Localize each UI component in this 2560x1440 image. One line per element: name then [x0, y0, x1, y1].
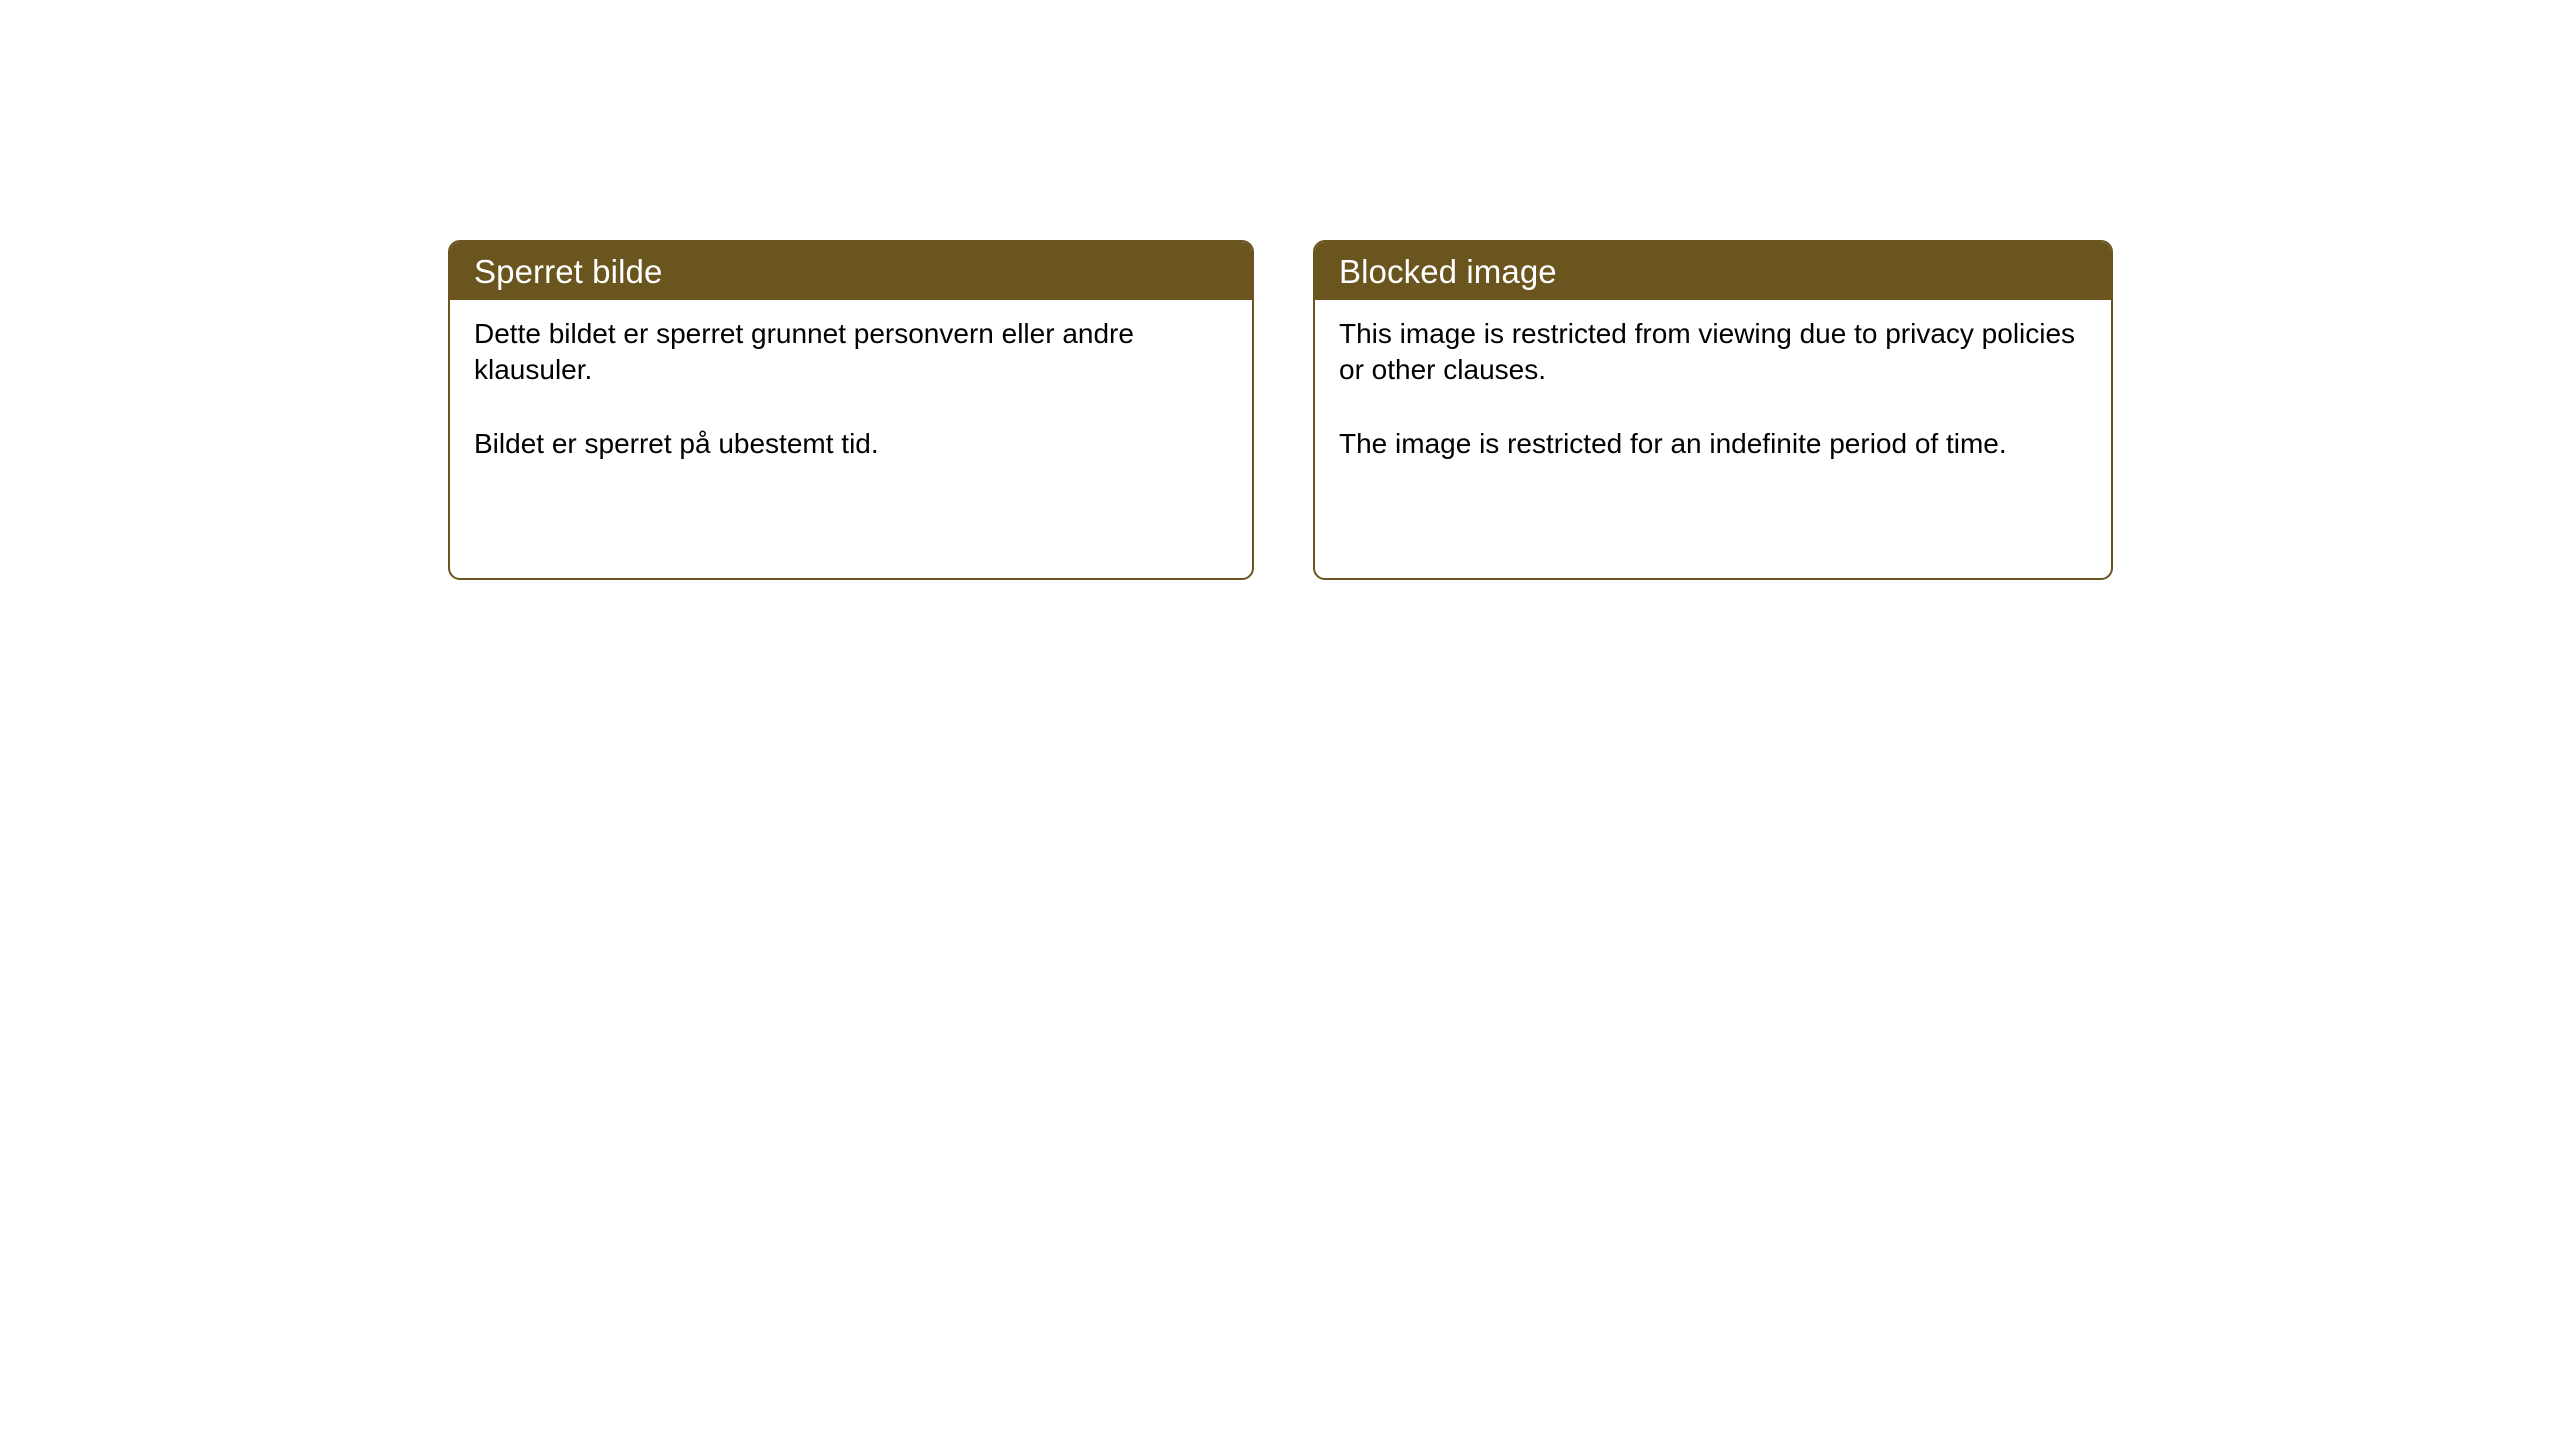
card-header-english: Blocked image	[1315, 242, 2111, 300]
card-header-norwegian: Sperret bilde	[450, 242, 1252, 300]
card-paragraph-duration-english: The image is restricted for an indefinit…	[1339, 426, 2079, 462]
page-canvas: Sperret bilde Dette bildet er sperret gr…	[0, 0, 2560, 1440]
blocked-image-card-english: Blocked image This image is restricted f…	[1313, 240, 2113, 580]
blocked-image-card-norwegian: Sperret bilde Dette bildet er sperret gr…	[448, 240, 1254, 580]
card-title-norwegian: Sperret bilde	[474, 255, 662, 288]
card-paragraph-reason-english: This image is restricted from viewing du…	[1339, 316, 2079, 389]
card-body-norwegian: Dette bildet er sperret grunnet personve…	[450, 300, 1252, 462]
card-paragraph-duration-norwegian: Bildet er sperret på ubestemt tid.	[474, 426, 1214, 462]
card-paragraph-reason-norwegian: Dette bildet er sperret grunnet personve…	[474, 316, 1214, 389]
card-body-english: This image is restricted from viewing du…	[1315, 300, 2111, 462]
card-title-english: Blocked image	[1339, 255, 1557, 288]
